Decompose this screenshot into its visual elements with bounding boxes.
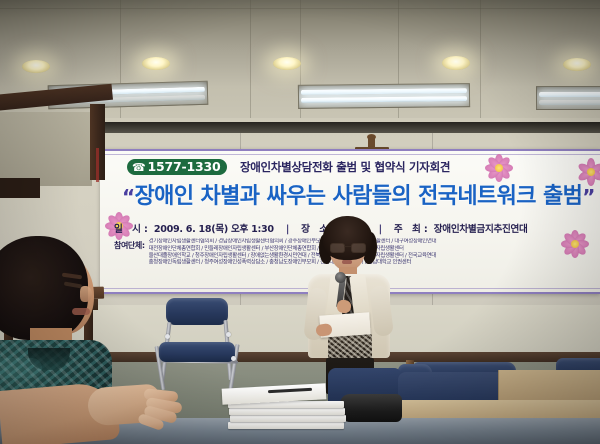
chair-rivet: [226, 332, 231, 337]
cosmos-flower-icon: [484, 153, 510, 179]
wall-red-strip: [96, 148, 99, 182]
participants-label: 참여단체:: [114, 239, 145, 251]
glasses-lens: [330, 243, 345, 253]
fluorescent-tube: [539, 92, 600, 97]
fluorescent-light-fixture: [298, 83, 470, 109]
fluorescent-light-fixture: [536, 86, 600, 110]
speaker-skirt: [328, 334, 372, 360]
dark-camera-bag: [340, 394, 402, 422]
door-recess: [0, 112, 92, 186]
attendee-lips: [72, 308, 90, 315]
date-label: 일 시:: [114, 224, 151, 235]
hotline-number: 1577-1330: [148, 161, 221, 174]
fluorescent-tube: [301, 96, 467, 103]
attendee-hand-on-papers: [88, 380, 198, 432]
ceiling-tile-seam: [120, 0, 121, 132]
ceiling-tile-seam: [250, 0, 251, 120]
left-dark-corner: [0, 178, 40, 198]
glasses-lens: [351, 243, 366, 253]
date-value: 2009. 6. 18(목) 오후 1:30: [154, 224, 274, 235]
hotline-badge: ☎ 1577-1330: [127, 159, 227, 175]
speaker-mouth: [342, 260, 352, 264]
ceiling-tile-seam: [398, 0, 399, 132]
banner-main-title: “장애인 차별과 싸우는 사람들의 전국네트워크 출범”: [122, 184, 592, 210]
attendee-hair: [0, 236, 88, 340]
paper-sheet: [230, 415, 346, 422]
ceiling-downlight: [563, 58, 591, 71]
ceiling-tile-seam: [480, 0, 481, 120]
folding-chair[interactable]: [150, 298, 248, 392]
paper-sheet: [229, 408, 345, 415]
microphone-icon: [335, 272, 346, 283]
chair-rivet: [231, 356, 236, 361]
quote-close: ”: [582, 185, 595, 209]
glasses-bridge: [344, 246, 351, 247]
banner-subtitle: 장애인차별상담전화 출범 및 협약식 기자회견: [240, 159, 450, 175]
paper-sheet: [228, 422, 344, 429]
host-value: 장애인차별금지추진연대: [434, 224, 528, 235]
stacked-documents[interactable]: [228, 392, 344, 432]
quote-open: “: [122, 185, 135, 209]
ceiling-downlight: [273, 57, 301, 70]
photo-scene: ☎ 1577-1330 장애인차별상담전화 출범 및 협약식 기자회견 “장애인…: [0, 0, 600, 444]
ceiling-tile-seam: [0, 8, 600, 9]
chair-seat: [159, 342, 235, 362]
ceiling-tile-seam: [300, 0, 301, 132]
ceiling-downlight: [142, 57, 170, 70]
banner-main-title-text: 장애인 차별과 싸우는 사람들의 전국네트워크 출범: [135, 184, 583, 209]
attendee-nose: [80, 286, 92, 302]
fluorescent-tube: [301, 88, 467, 95]
eyeglasses-icon: [330, 243, 365, 251]
ceiling-downlight: [22, 60, 50, 73]
speaker-hair: [323, 216, 372, 260]
banner-border-line: [100, 154, 600, 155]
ceiling-downlight: [442, 56, 470, 70]
telephone-icon: ☎: [132, 162, 146, 173]
chair-rivet: [165, 334, 170, 339]
cosmos-flower-icon: [576, 157, 600, 181]
fluorescent-tube: [539, 100, 600, 105]
attendee-shoulder-highlight: [0, 358, 42, 378]
chair-backrest: [166, 298, 228, 325]
